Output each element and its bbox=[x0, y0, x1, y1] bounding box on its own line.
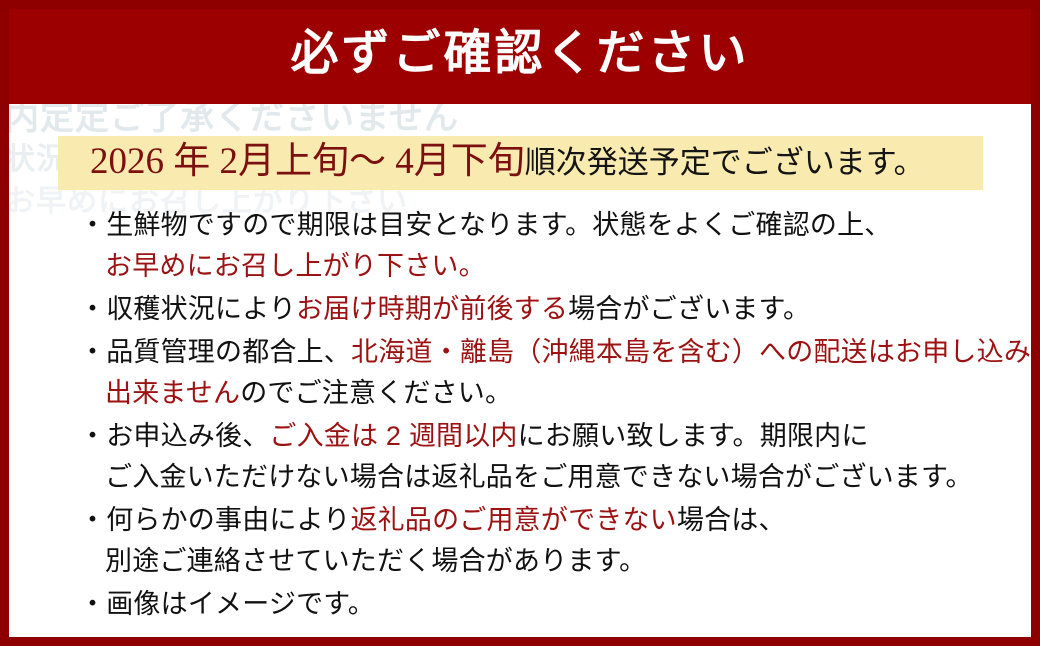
notice-list: ・生鮮物ですので期限は目安となります。状態をよくご確認の上、お早めにお召し上がり… bbox=[79, 205, 1011, 627]
notice-text: 生鮮物ですので期限は目安となります。状態をよくご確認の上、 bbox=[106, 210, 891, 240]
notice-text-highlight: 北海道・離島（沖縄本島を含む）への配送はお申し込み bbox=[351, 337, 1031, 367]
notice-line: ・画像はイメージです。 bbox=[79, 584, 1011, 625]
notice-item: ・生鮮物ですので期限は目安となります。状態をよくご確認の上、お早めにお召し上がり… bbox=[79, 205, 1011, 287]
notice-item: ・お申込み後、ご入金は 2 週間以内にお願い致します。期限内にご入金いただけない… bbox=[79, 416, 1011, 498]
notice-text: お申込み後、 bbox=[106, 421, 269, 451]
bullet-icon: ・ bbox=[79, 294, 106, 324]
shipping-period-suffix: 順次発送予定でございます。 bbox=[525, 145, 925, 180]
notice-line: ・生鮮物ですので期限は目安となります。状態をよくご確認の上、 bbox=[79, 205, 1011, 246]
notice-item: ・品質管理の都合上、北海道・離島（沖縄本島を含む）への配送はお申し込み出来ません… bbox=[79, 332, 1011, 414]
bullet-icon: ・ bbox=[79, 210, 106, 240]
notice-text: 画像はイメージです。 bbox=[106, 589, 375, 619]
bullet-icon: ・ bbox=[79, 337, 106, 367]
notice-line: ご入金いただけない場合は返礼品をご用意できない場合がございます。 bbox=[79, 457, 1011, 498]
bullet-icon: ・ bbox=[79, 505, 106, 535]
notice-text: 場合は、 bbox=[677, 505, 786, 535]
notice-text: 収穫状況により bbox=[106, 294, 296, 324]
notice-text: 何らかの事由により bbox=[106, 505, 350, 535]
notice-line: ・何らかの事由により返礼品のご用意ができない場合は、 bbox=[79, 500, 1011, 541]
notice-text-highlight: お届け時期が前後する bbox=[296, 294, 568, 324]
notice-text: のでご注意ください。 bbox=[240, 378, 512, 408]
notice-text: 場合がございます。 bbox=[568, 294, 810, 324]
notice-text-highlight: 返礼品のご用意ができない bbox=[350, 505, 676, 535]
shipping-period-banner: 2026 年 2月上旬〜 4月下旬順次発送予定でございます。 bbox=[58, 136, 983, 190]
notice-text-highlight: 出来ません bbox=[105, 378, 240, 408]
notice-item: ・収穫状況によりお届け時期が前後する場合がございます。 bbox=[79, 289, 1011, 330]
notice-line: 出来ませんのでご注意ください。 bbox=[79, 373, 1011, 414]
notice-text: 別途ご連絡させていただく場合があります。 bbox=[105, 546, 646, 576]
shipping-notice-card: 厚多数量合、光ご確認の上 内定定ご了承くださいません 状況により期限となります … bbox=[0, 0, 1040, 646]
shipping-period-line: 2026 年 2月上旬〜 4月下旬順次発送予定でございます。 bbox=[90, 143, 925, 183]
notice-item: ・何らかの事由により返礼品のご用意ができない場合は、別途ご連絡させていただく場合… bbox=[79, 500, 1011, 582]
notice-line: お早めにお召し上がり下さい。 bbox=[79, 246, 1011, 287]
notice-text-highlight: ご入金は 2 週間以内 bbox=[269, 421, 517, 451]
notice-line: ・品質管理の都合上、北海道・離島（沖縄本島を含む）への配送はお申し込み bbox=[79, 332, 1011, 373]
notice-line: 別途ご連絡させていただく場合があります。 bbox=[79, 541, 1011, 582]
notice-text: にお願い致します。期限内に bbox=[518, 421, 869, 451]
notice-line: ・収穫状況によりお届け時期が前後する場合がございます。 bbox=[79, 289, 1011, 330]
notice-text: ご入金いただけない場合は返礼品をご用意できない場合がございます。 bbox=[105, 462, 973, 492]
notice-line: ・お申込み後、ご入金は 2 週間以内にお願い致します。期限内に bbox=[79, 416, 1011, 457]
notice-text: 品質管理の都合上、 bbox=[106, 337, 351, 367]
bullet-icon: ・ bbox=[79, 421, 106, 451]
notice-text-highlight: お早めにお召し上がり下さい。 bbox=[105, 251, 486, 281]
header-banner: 必ずご確認ください bbox=[0, 0, 1040, 104]
bullet-icon: ・ bbox=[79, 589, 106, 619]
notice-item: ・画像はイメージです。 bbox=[79, 584, 1011, 625]
shipping-period-value: 2026 年 2月上旬〜 4月下旬 bbox=[90, 141, 525, 182]
page-title: 必ずご確認ください bbox=[290, 26, 749, 78]
